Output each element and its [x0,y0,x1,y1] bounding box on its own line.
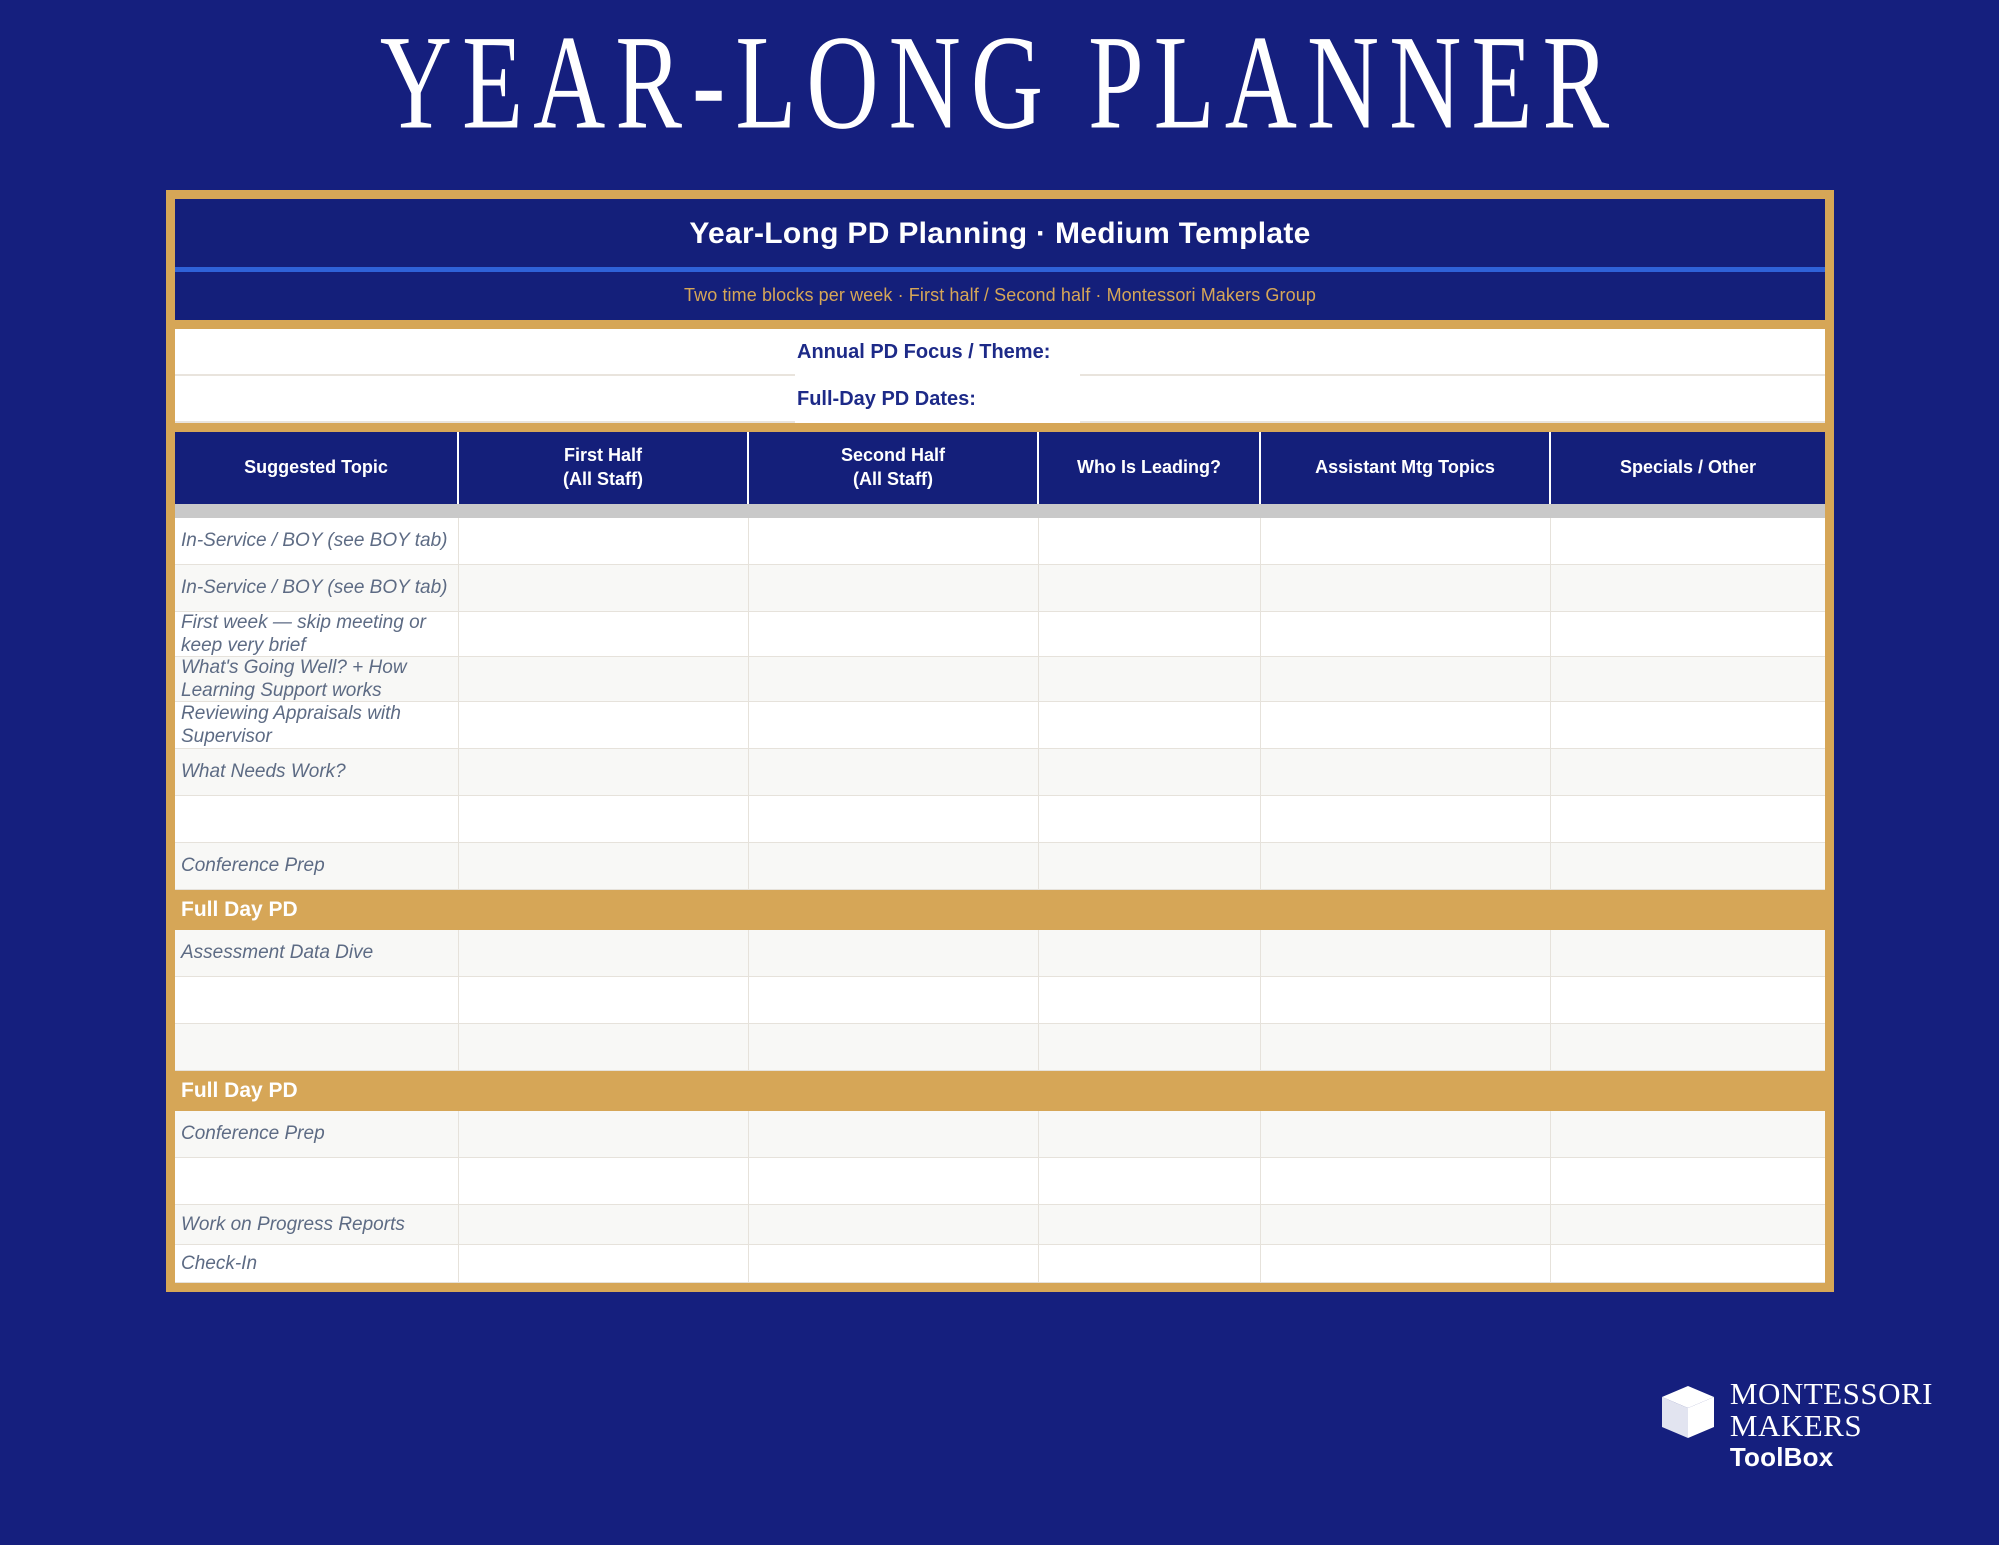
grid-row: Conference Prep [175,843,1825,890]
grid-section-fill [1039,1071,1261,1111]
grid-entry-cell[interactable] [1261,1245,1551,1283]
grid-header-cell-line: Specials / Other [1620,456,1756,480]
grid-section-row: Full Day PD [175,1071,1825,1111]
grid-row [175,1024,1825,1071]
grid-entry-cell[interactable] [749,796,1039,843]
grid-row: What Needs Work? [175,749,1825,796]
grid-row: In-Service / BOY (see BOY tab) [175,518,1825,565]
grid-entry-cell[interactable] [1261,930,1551,977]
grid-header-cell[interactable]: Specials / Other [1551,432,1825,504]
grid-entry-cell[interactable] [1039,843,1261,890]
grid-entry-cell[interactable] [1261,1111,1551,1158]
focus-left-spacer [175,329,795,376]
grid-header-cell-line: Assistant Mtg Topics [1315,456,1495,480]
grid-header-cell[interactable]: Second Half(All Staff) [749,432,1039,504]
grid-header-separator [175,504,1825,518]
focus-block: Annual PD Focus / Theme: Full-Day PD Dat… [175,329,1825,423]
grid-entry-cell[interactable] [749,565,1039,612]
grid-entry-cell[interactable] [749,1205,1039,1245]
grid-row: Reviewing Appraisals with Supervisor [175,702,1825,749]
focus-input-theme[interactable] [1080,329,1825,376]
grid-entry-cell[interactable] [459,612,749,657]
card-subheader-bar: Two time blocks per week · First half / … [175,272,1825,320]
grid-entry-cell[interactable] [749,1024,1039,1071]
grid-section-fill [749,890,1039,930]
grid-header-cell[interactable]: Who Is Leading? [1039,432,1261,504]
logo-text: MONTESSORI MAKERS ToolBox [1730,1378,1933,1473]
grid-entry-cell[interactable] [1551,749,1825,796]
grid-topic-cell[interactable] [175,1158,459,1205]
grid-entry-cell[interactable] [1039,565,1261,612]
grid-row: Conference Prep [175,1111,1825,1158]
focus-label-theme: Annual PD Focus / Theme: [795,329,1080,376]
grid-entry-cell[interactable] [1039,1111,1261,1158]
grid-entry-cell[interactable] [459,1024,749,1071]
grid-entry-cell[interactable] [1551,977,1825,1024]
grid-header-cell-line: Who Is Leading? [1077,456,1221,480]
grid-section-fill [459,1071,749,1111]
grid-entry-cell[interactable] [1551,930,1825,977]
grid-entry-cell[interactable] [1261,749,1551,796]
grid-entry-cell[interactable] [749,657,1039,702]
grid-entry-cell[interactable] [1551,612,1825,657]
planner-grid: Suggested TopicFirst Half(All Staff)Seco… [175,432,1825,1283]
grid-topic-cell[interactable]: What Needs Work? [175,749,459,796]
grid-entry-cell[interactable] [749,518,1039,565]
grid-entry-cell[interactable] [1551,843,1825,890]
grid-topic-cell[interactable]: In-Service / BOY (see BOY tab) [175,565,459,612]
grid-entry-cell[interactable] [1261,1158,1551,1205]
grid-row [175,977,1825,1024]
grid-section-label: Full Day PD [175,1071,459,1111]
grid-entry-cell[interactable] [1551,1205,1825,1245]
grid-header-cell-line: (All Staff) [563,468,643,492]
grid-row: What's Going Well? + How Learning Suppor… [175,657,1825,702]
grid-entry-cell[interactable] [749,1158,1039,1205]
logo-line-montessori: MONTESSORI [1730,1378,1933,1410]
grid-entry-cell[interactable] [1261,612,1551,657]
grid-entry-cell[interactable] [1261,1024,1551,1071]
grid-section-row: Full Day PD [175,890,1825,930]
grid-header-cell[interactable]: Suggested Topic [175,432,459,504]
grid-entry-cell[interactable] [459,518,749,565]
grid-entry-cell[interactable] [1039,612,1261,657]
grid-entry-cell[interactable] [459,1111,749,1158]
grid-section-fill [749,1071,1039,1111]
grid-topic-cell[interactable] [175,977,459,1024]
grid-row: Assessment Data Dive [175,930,1825,977]
grid-entry-cell[interactable] [459,1245,749,1283]
logo-line-toolbox: ToolBox [1730,1443,1933,1473]
grid-section-fill [1551,890,1825,930]
grid-topic-cell[interactable] [175,1024,459,1071]
cube-icon [1660,1384,1716,1442]
grid-entry-cell[interactable] [1261,796,1551,843]
grid-body: In-Service / BOY (see BOY tab)In-Service… [175,518,1825,1283]
grid-entry-cell[interactable] [1551,1245,1825,1283]
card-subheader-text: Two time blocks per week · First half / … [187,285,1813,306]
grid-entry-cell[interactable] [749,749,1039,796]
grid-entry-cell[interactable] [459,843,749,890]
grid-row: In-Service / BOY (see BOY tab) [175,565,1825,612]
page-banner: YEAR-LONG PLANNER [0,0,1999,166]
page-title: YEAR-LONG PLANNER [380,16,1619,151]
grid-row: Work on Progress Reports [175,1205,1825,1245]
brand-logo: MONTESSORI MAKERS ToolBox [1660,1378,1933,1473]
grid-header-cell-line: (All Staff) [853,468,933,492]
grid-topic-cell[interactable]: In-Service / BOY (see BOY tab) [175,518,459,565]
grid-topic-cell[interactable]: Conference Prep [175,1111,459,1158]
grid-topic-cell[interactable]: Assessment Data Dive [175,930,459,977]
grid-row [175,1158,1825,1205]
grid-entry-cell[interactable] [749,843,1039,890]
planner-card: Year-Long PD Planning · Medium Template … [166,190,1834,1292]
grid-entry-cell[interactable] [1039,930,1261,977]
grid-header-cell-line: Suggested Topic [244,456,388,480]
card-header-title: Year-Long PD Planning · Medium Template [187,217,1813,251]
card-header-bar: Year-Long PD Planning · Medium Template [175,199,1825,267]
focus-input-dates[interactable] [1080,376,1825,423]
grid-section-fill [1039,890,1261,930]
grid-entry-cell[interactable] [1039,702,1261,749]
grid-entry-cell[interactable] [1551,1024,1825,1071]
grid-entry-cell[interactable] [1039,657,1261,702]
grid-section-fill [1261,1071,1551,1111]
grid-entry-cell[interactable] [1261,977,1551,1024]
grid-row: First week — skip meeting or keep very b… [175,612,1825,657]
grid-entry-cell[interactable] [1261,843,1551,890]
grid-entry-cell[interactable] [459,930,749,977]
focus-row-dates: Full-Day PD Dates: [175,376,1825,423]
grid-entry-cell[interactable] [459,796,749,843]
grid-header-row: Suggested TopicFirst Half(All Staff)Seco… [175,432,1825,504]
grid-topic-cell[interactable]: Check-In [175,1245,459,1283]
grid-entry-cell[interactable] [749,1111,1039,1158]
grid-section-fill [459,890,749,930]
grid-header-cell[interactable]: First Half(All Staff) [459,432,749,504]
grid-entry-cell[interactable] [749,612,1039,657]
grid-entry-cell[interactable] [1039,977,1261,1024]
grid-entry-cell[interactable] [1261,565,1551,612]
focus-row-theme: Annual PD Focus / Theme: [175,329,1825,376]
grid-topic-cell[interactable] [175,796,459,843]
grid-entry-cell[interactable] [1039,796,1261,843]
grid-entry-cell[interactable] [749,930,1039,977]
grid-entry-cell[interactable] [1039,1245,1261,1283]
grid-entry-cell[interactable] [459,702,749,749]
logo-line-makers: MAKERS [1730,1410,1933,1442]
grid-topic-cell[interactable]: Work on Progress Reports [175,1205,459,1245]
grid-header-cell-line: First Half [564,444,642,468]
grid-row: Check-In [175,1245,1825,1283]
grid-entry-cell[interactable] [459,977,749,1024]
grid-topic-cell[interactable]: What's Going Well? + How Learning Suppor… [175,657,459,702]
grid-entry-cell[interactable] [1039,749,1261,796]
grid-entry-cell[interactable] [1551,702,1825,749]
grid-entry-cell[interactable] [1261,657,1551,702]
grid-entry-cell[interactable] [459,657,749,702]
grid-entry-cell[interactable] [459,565,749,612]
grid-entry-cell[interactable] [1039,1158,1261,1205]
focus-left-spacer [175,376,795,423]
grid-entry-cell[interactable] [1551,657,1825,702]
focus-label-dates: Full-Day PD Dates: [795,376,1080,423]
grid-row [175,796,1825,843]
grid-topic-cell[interactable]: Conference Prep [175,843,459,890]
grid-entry-cell[interactable] [459,749,749,796]
grid-topic-cell[interactable]: First week — skip meeting or keep very b… [175,612,459,657]
grid-entry-cell[interactable] [1039,1205,1261,1245]
grid-entry-cell[interactable] [1261,518,1551,565]
grid-entry-cell[interactable] [1551,796,1825,843]
grid-entry-cell[interactable] [459,1205,749,1245]
grid-entry-cell[interactable] [749,1245,1039,1283]
grid-entry-cell[interactable] [1261,702,1551,749]
grid-entry-cell[interactable] [1039,518,1261,565]
grid-section-label: Full Day PD [175,890,459,930]
grid-entry-cell[interactable] [459,1158,749,1205]
grid-entry-cell[interactable] [1551,518,1825,565]
grid-entry-cell[interactable] [1261,1205,1551,1245]
grid-section-fill [1261,890,1551,930]
card-header: Year-Long PD Planning · Medium Template … [175,199,1825,320]
grid-topic-cell[interactable]: Reviewing Appraisals with Supervisor [175,702,459,749]
grid-entry-cell[interactable] [749,702,1039,749]
grid-entry-cell[interactable] [1039,1024,1261,1071]
grid-entry-cell[interactable] [749,977,1039,1024]
grid-entry-cell[interactable] [1551,1111,1825,1158]
grid-entry-cell[interactable] [1551,565,1825,612]
grid-entry-cell[interactable] [1551,1158,1825,1205]
grid-section-fill [1551,1071,1825,1111]
grid-header-cell-line: Second Half [841,444,945,468]
grid-header-cell[interactable]: Assistant Mtg Topics [1261,432,1551,504]
